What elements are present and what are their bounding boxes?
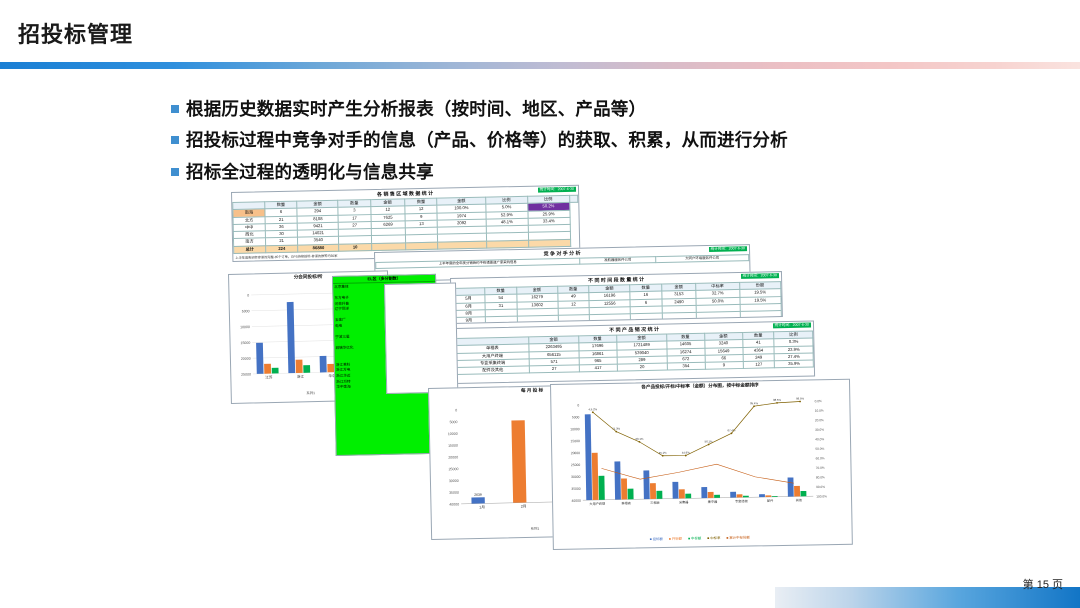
time-table-stamp: 统计时间：2007-6-30 bbox=[741, 273, 779, 279]
sales-table-stamp: 统计时间：2007-6-30 bbox=[538, 187, 576, 193]
legend-item: ■ 中标率 bbox=[707, 536, 720, 540]
svg-text:采集器: 采集器 bbox=[679, 499, 689, 504]
svg-text:25000: 25000 bbox=[449, 467, 459, 471]
svg-text:25000: 25000 bbox=[571, 463, 581, 467]
svg-text:集中器: 集中器 bbox=[708, 499, 718, 504]
product-combo-chart-panel: 各产品投标/开标/中标率（金额）分布图，按中标金额排序 400003500030… bbox=[550, 379, 853, 550]
svg-text:4,5.2%: 4,5.2% bbox=[588, 407, 597, 411]
svg-text:10000: 10000 bbox=[448, 432, 458, 436]
svg-text:50.0%: 50.0% bbox=[815, 447, 824, 451]
svg-text:67.4%: 67.4% bbox=[727, 428, 735, 432]
product-table-panel: 不 同 产 品 销 况 统 计 统计时间：2007-6-30 金额数量金额数量金… bbox=[454, 320, 815, 384]
svg-text:40.0%: 40.0% bbox=[815, 437, 824, 441]
svg-text:80.0%: 80.0% bbox=[816, 475, 825, 479]
legend-item: ■ 投标额 bbox=[650, 537, 663, 541]
bullet-marker-icon bbox=[171, 105, 179, 113]
svg-text:浙江: 浙江 bbox=[297, 374, 305, 379]
bullet-list: 根据历史数据实时产生分析报表（按时间、地区、产品等） 招投标过程中竞争对手的信息… bbox=[171, 96, 971, 190]
svg-text:71.3%: 71.3% bbox=[612, 427, 620, 431]
svg-text:5000: 5000 bbox=[572, 415, 580, 419]
svg-text:0: 0 bbox=[577, 403, 579, 407]
svg-text:35000: 35000 bbox=[449, 491, 459, 495]
svg-text:98.5%: 98.5% bbox=[773, 398, 781, 402]
legend-item: ■ 累计中标份额 bbox=[726, 536, 749, 540]
page-title: 招投标管理 bbox=[18, 17, 133, 49]
svg-text:1月: 1月 bbox=[479, 504, 485, 509]
svg-text:40000: 40000 bbox=[571, 499, 581, 503]
svg-text:70.0%: 70.0% bbox=[816, 466, 825, 470]
svg-text:5000: 5000 bbox=[450, 420, 458, 424]
svg-text:20.0%: 20.0% bbox=[815, 418, 824, 422]
svg-text:20000: 20000 bbox=[241, 357, 251, 361]
svg-text:2639: 2639 bbox=[474, 493, 482, 497]
legend-item: ■ 中标额 bbox=[688, 536, 701, 540]
slide-root: 招投标管理 根据历史数据实时产生分析报表（按时间、地区、产品等） 招投标过程中竞… bbox=[0, 0, 1080, 608]
svg-text:60.0%: 60.0% bbox=[816, 456, 825, 460]
svg-text:0: 0 bbox=[455, 408, 457, 412]
svg-text:三相表: 三相表 bbox=[650, 500, 660, 505]
product-table-stamp: 统计时间：2007-6-30 bbox=[773, 323, 811, 329]
competitor-column: 准航器服务件公司 bbox=[580, 257, 656, 265]
svg-text:30.0%: 30.0% bbox=[815, 428, 824, 432]
svg-text:10000: 10000 bbox=[240, 325, 250, 329]
svg-text:20000: 20000 bbox=[571, 451, 581, 455]
svg-text:专变终端: 专变终端 bbox=[735, 498, 749, 503]
bullet-marker-icon bbox=[171, 136, 179, 144]
combo-chart-svg: 4000035000300002500020000150001000050000… bbox=[551, 388, 851, 533]
bullet-item: 招标全过程的透明化与信息共享 bbox=[171, 159, 971, 185]
competitor-column: 大同户环境服务件公司 bbox=[656, 255, 749, 263]
svg-text:2月: 2月 bbox=[521, 503, 527, 508]
svg-text:99.5%: 99.5% bbox=[796, 396, 804, 400]
svg-text:40000: 40000 bbox=[449, 502, 459, 506]
svg-text:30000: 30000 bbox=[571, 475, 581, 479]
svg-text:其他: 其他 bbox=[796, 497, 803, 502]
bullet-item: 根据历史数据实时产生分析报表（按时间、地区、产品等） bbox=[171, 96, 971, 122]
svg-text:35000: 35000 bbox=[571, 487, 581, 491]
svg-text:配件: 配件 bbox=[767, 498, 773, 503]
svg-text:15000: 15000 bbox=[570, 439, 580, 443]
svg-text:单相表: 单相表 bbox=[621, 500, 631, 505]
competitor-stamp: 统计时间：2007-6-30 bbox=[709, 246, 747, 252]
bullet-text: 招投标过程中竞争对手的信息（产品、价格等）的获取、积累，从而进行分析 bbox=[186, 127, 788, 153]
svg-text:0.0%: 0.0% bbox=[815, 399, 822, 403]
svg-text:95.4%: 95.4% bbox=[750, 401, 758, 405]
page-number: 第 15 页 bbox=[1023, 576, 1063, 592]
header-divider-bar bbox=[0, 62, 1080, 69]
svg-text:10.0%: 10.0% bbox=[815, 409, 824, 413]
svg-text:30000: 30000 bbox=[449, 479, 459, 483]
bullet-text: 根据历史数据实时产生分析报表（按时间、地区、产品等） bbox=[186, 96, 646, 122]
bullet-item: 招投标过程中竞争对手的信息（产品、价格等）的获取、积累，从而进行分析 bbox=[171, 127, 971, 153]
svg-text:大用户终端: 大用户终端 bbox=[589, 501, 606, 506]
svg-text:江苏: 江苏 bbox=[265, 374, 273, 379]
bullet-marker-icon bbox=[171, 168, 179, 176]
legend-item: ■ 开标额 bbox=[669, 537, 682, 541]
time-period-table-panel: 不 同 时 间 段 数 量 统 计 统计时间：2007-6-30 数量金额数量金… bbox=[450, 271, 783, 324]
svg-text:10000: 10000 bbox=[570, 427, 580, 431]
sales-table: 数量金额数量金额数量金额比例比例南海629431212100.0%5.0%50.… bbox=[232, 195, 579, 254]
svg-text:20000: 20000 bbox=[448, 455, 458, 459]
svg-text:25000: 25000 bbox=[241, 372, 251, 376]
product-table: 金额数量金额数量金额数量比例单相表22634951769617214891460… bbox=[455, 330, 814, 375]
vendor-list-panel bbox=[384, 282, 458, 393]
svg-text:5000: 5000 bbox=[242, 309, 250, 313]
bullet-text: 招标全过程的透明化与信息共享 bbox=[186, 159, 434, 185]
svg-text:0: 0 bbox=[247, 294, 249, 298]
svg-text:15000: 15000 bbox=[240, 341, 250, 345]
svg-text:100.0%: 100.0% bbox=[816, 494, 827, 498]
svg-text:15000: 15000 bbox=[448, 444, 458, 448]
time-table: 数量金额数量金额数量金额中标率份额5月541627949161961631533… bbox=[451, 281, 782, 324]
screenshot-collage: 各 销 售 区 域 数 据 统 计 统计时间：2007-6-30 数量金额数量金… bbox=[228, 192, 848, 562]
combo-chart-legend: ■ 投标额■ 开标额■ 中标额■ 中标率■ 累计中标份额 bbox=[554, 533, 852, 543]
svg-text:90.0%: 90.0% bbox=[816, 485, 825, 489]
